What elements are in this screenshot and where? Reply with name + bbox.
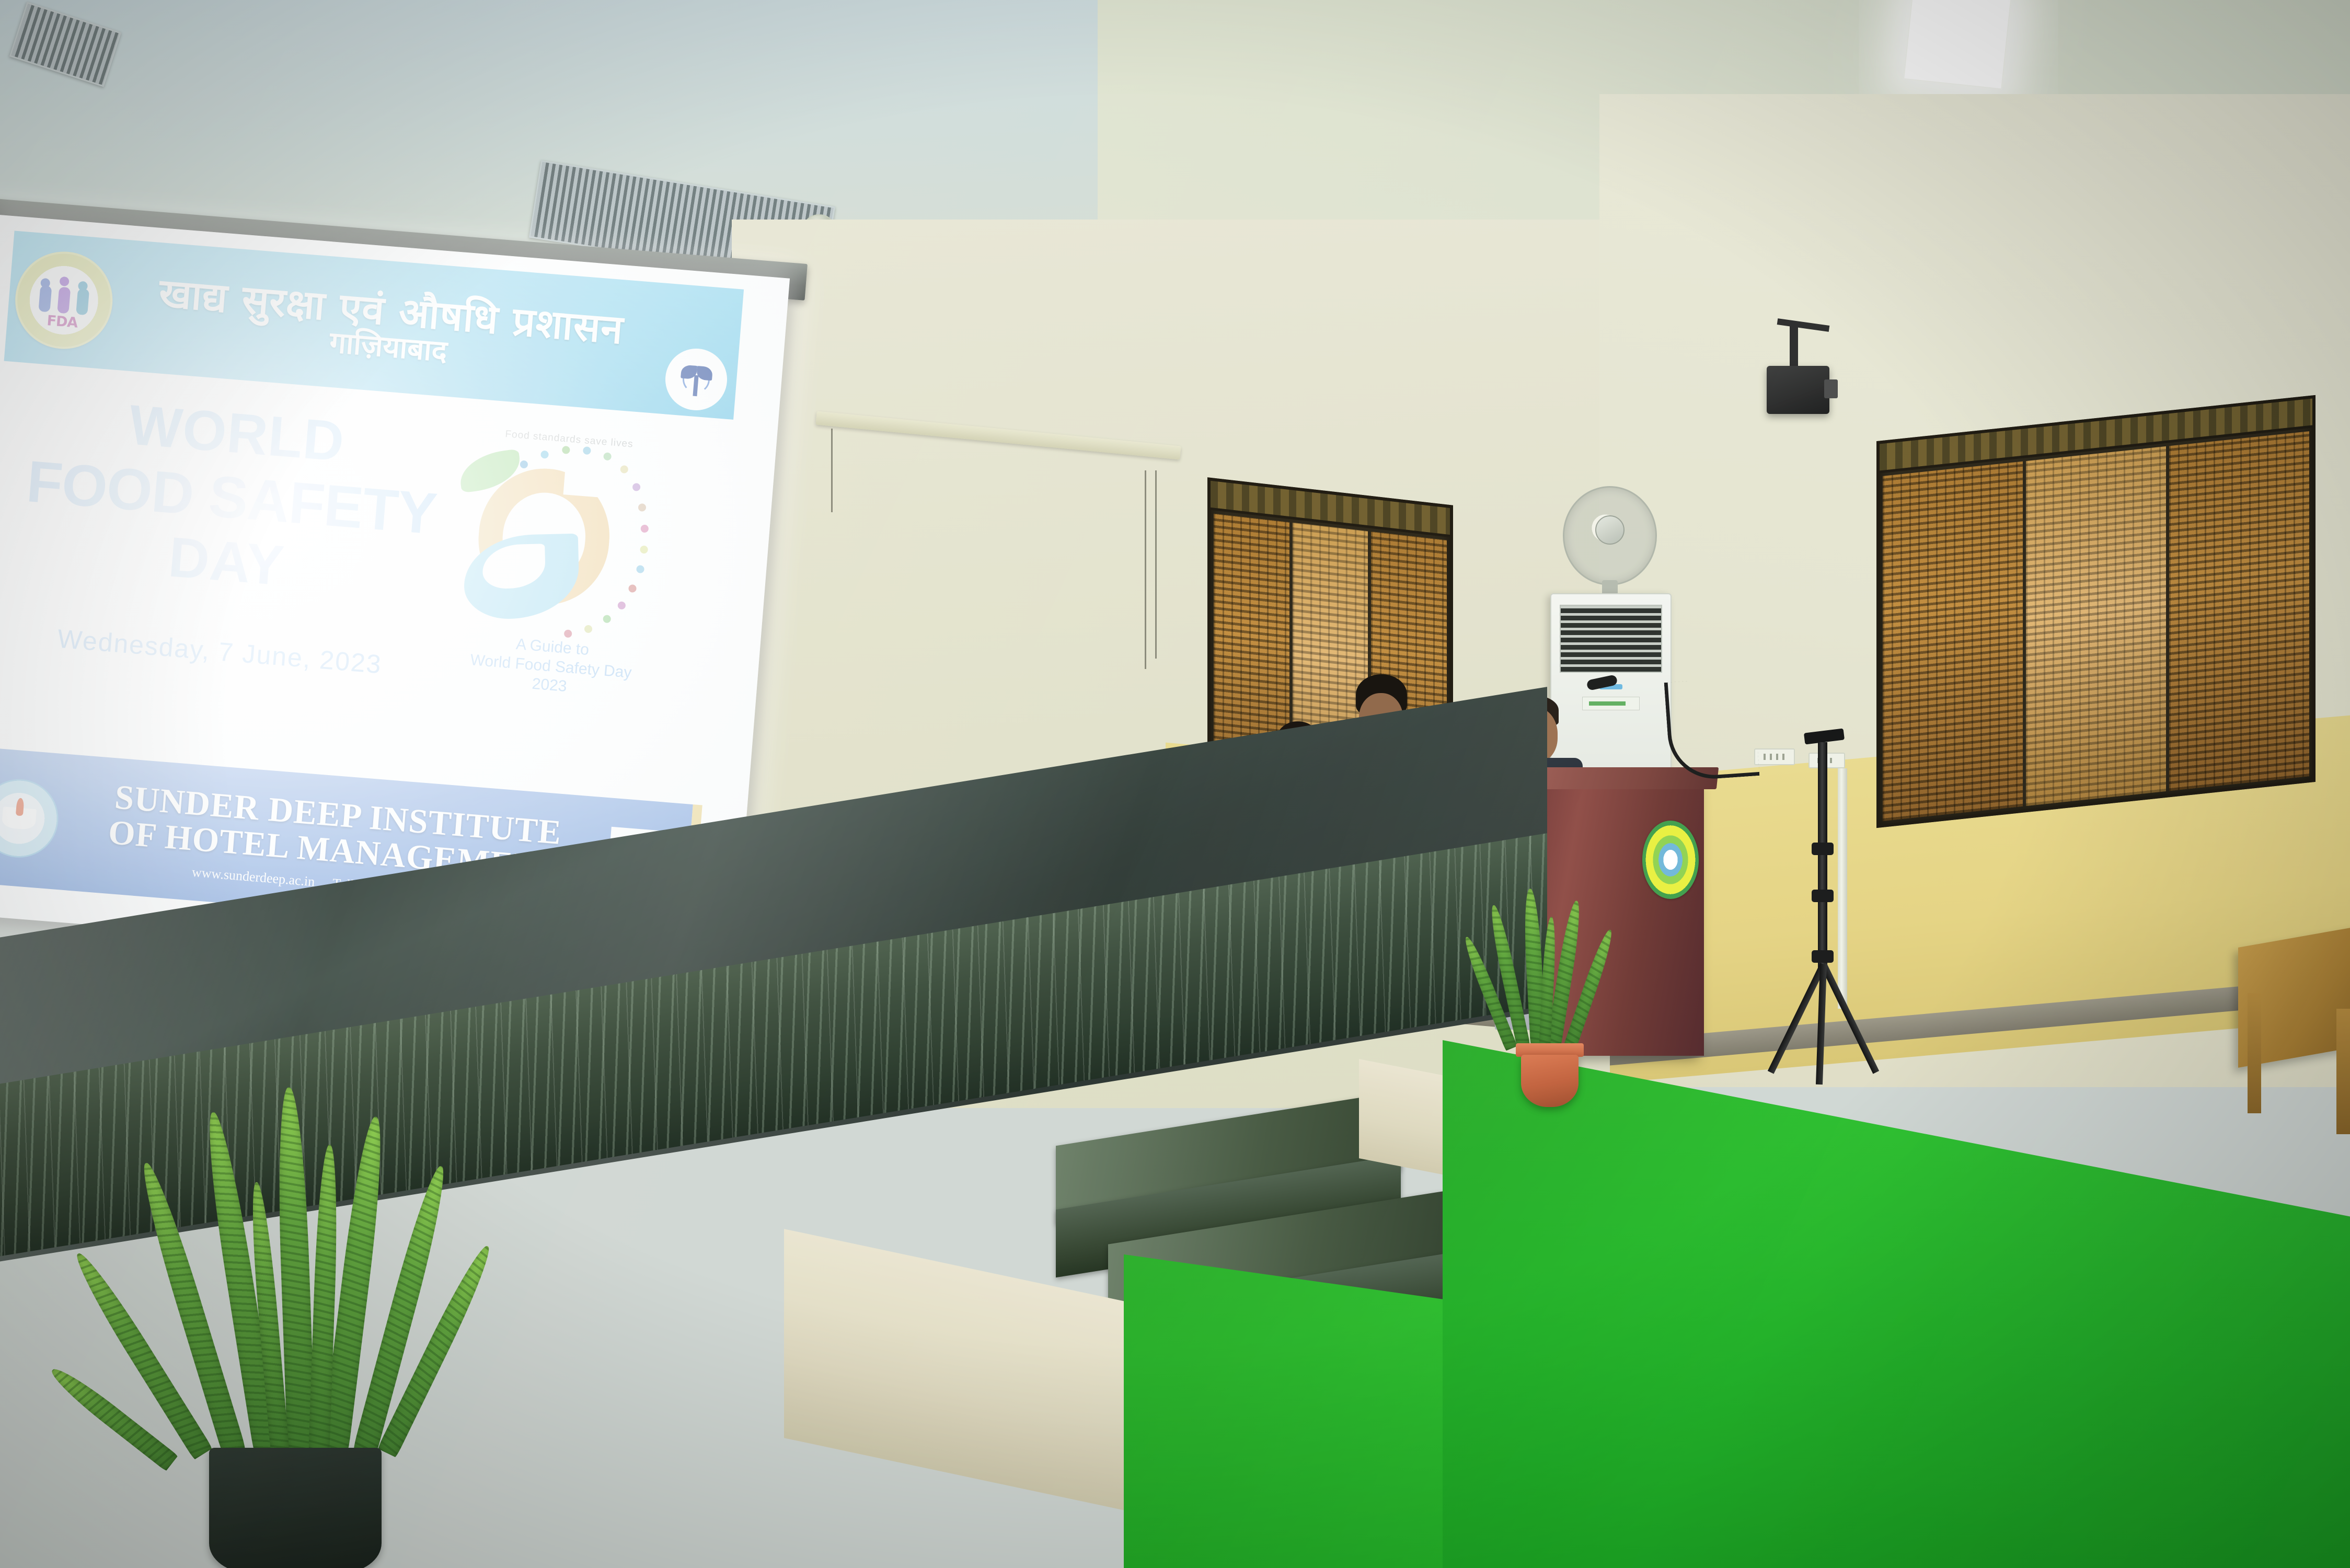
institute-website: www.sunderdeep.ac.in <box>191 865 315 889</box>
tripod-clamp[interactable] <box>1812 950 1834 963</box>
fssai-seal-icon: FDA <box>11 248 116 352</box>
snake-plant-foreground <box>131 1087 455 1568</box>
caption-year: 2023 <box>532 675 568 695</box>
green-carpet <box>1443 1040 2350 1568</box>
ac-display-panel <box>1582 697 1640 710</box>
auditorium-photo: FDA खाद्य सुरक्षा एवं औषधि प्रशासन गाज़ि… <box>0 0 2350 1568</box>
window-right <box>1876 395 2316 828</box>
fda-wordmark: FDA <box>46 313 78 331</box>
bamboo-blind[interactable] <box>1883 462 2023 821</box>
snake-plant-stage <box>1484 889 1610 1098</box>
fda-tree-badge-icon <box>663 346 729 412</box>
plant-pot-dark <box>209 1448 382 1568</box>
ceiling-panel-light <box>1903 0 2012 89</box>
carpet-shading <box>1443 1040 2350 1568</box>
fan-hub <box>1595 515 1625 545</box>
hanging-cable <box>1155 470 1157 659</box>
tripod-stand[interactable] <box>1761 742 1887 1077</box>
ac-vent-grille <box>1560 605 1662 673</box>
logo-caption: A Guide to World Food Safety Day 2023 <box>444 630 658 704</box>
fssai-emblem: FDA <box>33 269 95 331</box>
ceiling-projector <box>1767 366 1829 414</box>
world-food-safety-day-logo: Food standards save lives <box>437 425 679 734</box>
tripod-leg <box>1821 963 1880 1074</box>
projector-lens-icon <box>1824 379 1838 398</box>
terracotta-pot <box>1521 1055 1579 1107</box>
tripod-clamp[interactable] <box>1812 843 1834 855</box>
slide-date: Wednesday, 7 June, 2023 <box>10 620 429 684</box>
hanging-cable <box>1145 470 1146 669</box>
tripod-clamp[interactable] <box>1812 890 1834 902</box>
bench-leg <box>2336 1009 2350 1134</box>
tripod-pole <box>1818 742 1827 972</box>
bamboo-blind[interactable] <box>2026 446 2166 806</box>
tree-icon <box>678 362 715 398</box>
projector-mount <box>1790 324 1798 371</box>
bench-leg <box>2248 993 2261 1113</box>
bamboo-blind[interactable] <box>2169 431 2309 791</box>
sunder-deep-crest <box>1642 821 1699 899</box>
sunder-deep-seal-icon <box>0 776 61 861</box>
slide-header-hindi: खाद्य सुरक्षा एवं औषधि प्रशासन गाज़ियाबा… <box>109 269 671 385</box>
wall-fan[interactable] <box>1563 486 1657 585</box>
slide-body: WORLD FOOD SAFETY DAY Wednesday, 7 June,… <box>0 373 732 795</box>
flame-icon <box>16 798 25 816</box>
slide-title: WORLD FOOD SAFETY DAY <box>8 385 456 611</box>
hanging-cable <box>831 429 833 512</box>
